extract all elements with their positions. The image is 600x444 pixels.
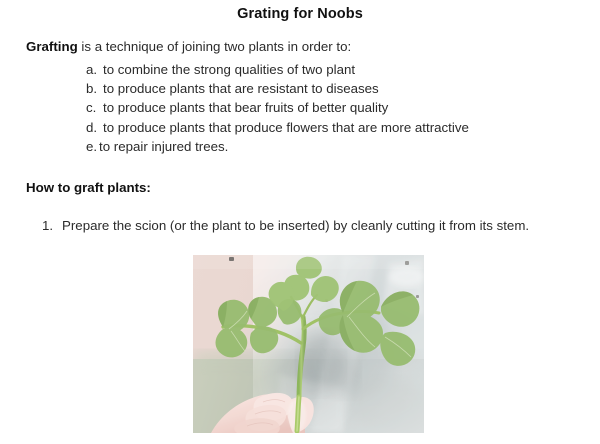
list-item-label: to produce plants that bear fruits of be… [103, 98, 388, 117]
benefits-list: a. to combine the strong qualities of tw… [86, 60, 469, 156]
intro-paragraph: Grafting is a technique of joining two p… [26, 38, 351, 55]
list-item-label: to repair injured trees. [99, 137, 228, 156]
list-item-label: to combine the strong qualities of two p… [103, 60, 355, 79]
list-item: d. to produce plants that produce flower… [86, 118, 469, 137]
list-item-label: Prepare the scion (or the plant to be in… [62, 216, 529, 235]
list-marker: e. [86, 137, 99, 156]
list-item: a. to combine the strong qualities of tw… [86, 60, 469, 79]
page-title: Grating for Noobs [0, 6, 600, 22]
tomato-seedling-photo-image [193, 255, 424, 433]
intro-lead-term: Grafting [26, 39, 78, 54]
steps-list: 1. Prepare the scion (or the plant to be… [42, 216, 529, 235]
list-marker: c. [86, 98, 103, 117]
list-item-label: to produce plants that produce flowers t… [103, 118, 469, 137]
tomato-seedling-photo [193, 255, 424, 433]
list-marker: b. [86, 79, 103, 98]
list-marker: 1. [42, 216, 62, 235]
section-heading: How to graft plants: [26, 180, 151, 195]
list-item-label: to produce plants that are resistant to … [103, 79, 379, 98]
list-marker: d. [86, 118, 103, 137]
document-page: Grating for Noobs Grafting is a techniqu… [0, 0, 600, 444]
list-marker: a. [86, 60, 103, 79]
intro-rest-text: is a technique of joining two plants in … [78, 39, 352, 54]
list-item: e. to repair injured trees. [86, 137, 469, 156]
list-item: 1. Prepare the scion (or the plant to be… [42, 216, 529, 235]
list-item: c. to produce plants that bear fruits of… [86, 98, 469, 117]
list-item: b. to produce plants that are resistant … [86, 79, 469, 98]
